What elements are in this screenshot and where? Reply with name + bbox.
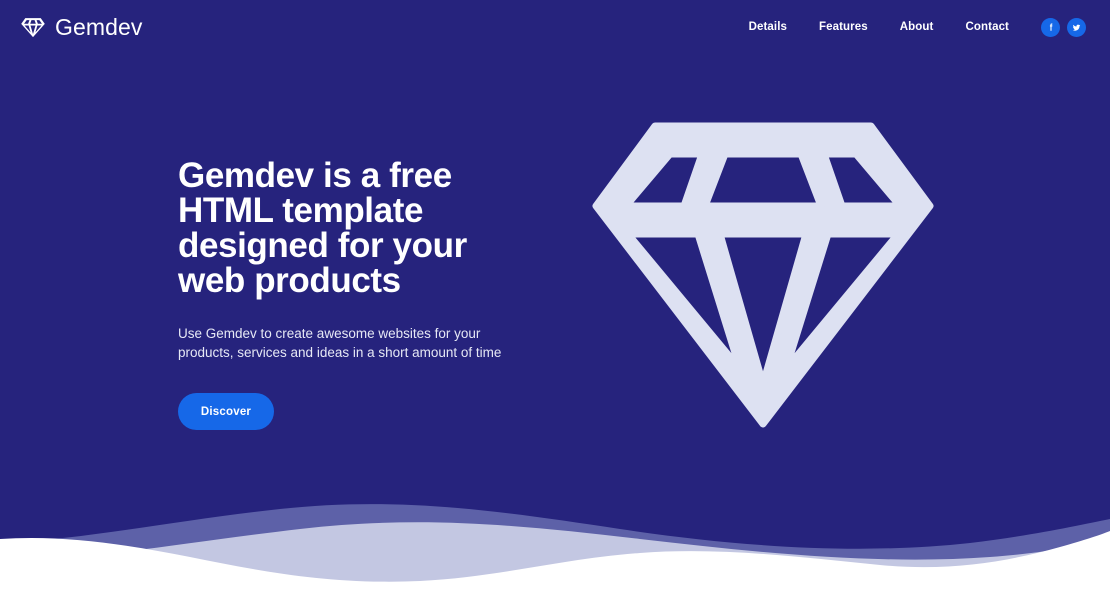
page-title: Gemdev is a free HTML template designed …	[178, 158, 538, 298]
main-nav: Details Features About Contact	[733, 18, 1086, 37]
hero-subtitle: Use Gemdev to create awesome websites fo…	[178, 324, 508, 362]
nav-item-contact[interactable]: Contact	[949, 21, 1025, 33]
diamond-icon	[20, 14, 46, 40]
twitter-icon[interactable]	[1067, 18, 1086, 37]
hero-content: Gemdev is a free HTML template designed …	[178, 158, 578, 430]
nav-item-features[interactable]: Features	[803, 21, 884, 33]
social-links	[1041, 18, 1086, 37]
diamond-illustration	[592, 122, 934, 430]
wave-decoration	[0, 481, 1110, 591]
facebook-icon[interactable]	[1041, 18, 1060, 37]
site-header: Gemdev Details Features About Contact	[0, 0, 1110, 54]
landing-page: Gemdev Details Features About Contact	[0, 0, 1110, 591]
nav-item-about[interactable]: About	[884, 21, 950, 33]
nav-item-details[interactable]: Details	[733, 21, 803, 33]
discover-button[interactable]: Discover	[178, 393, 274, 430]
brand-name: Gemdev	[55, 16, 143, 39]
brand-logo[interactable]: Gemdev	[20, 14, 143, 40]
